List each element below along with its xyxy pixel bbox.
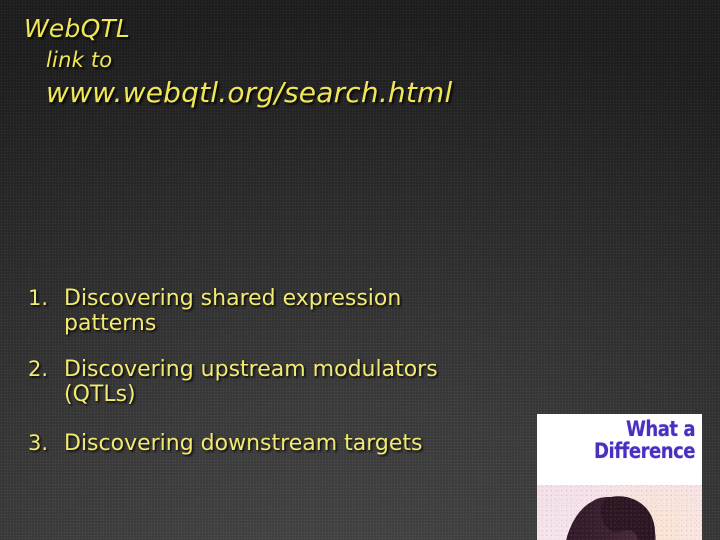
list-item-number: 2. xyxy=(28,358,64,382)
list-item-number: 1. xyxy=(28,287,64,311)
list-item-label: Discovering shared expression patterns xyxy=(64,287,464,336)
list-item-number: 3. xyxy=(28,432,64,456)
list-item: 3. Discovering downstream targets xyxy=(28,432,498,457)
list-item: 1. Discovering shared expression pattern… xyxy=(28,287,498,336)
poster-headline-line-2: Difference xyxy=(559,441,695,463)
title-line-1: WebQTL xyxy=(24,16,502,41)
title-line-3-url: www.webqtl.org/search.html xyxy=(46,79,502,107)
poster-headline-line-1: What a xyxy=(559,419,695,441)
title-line-2: link to xyxy=(46,50,502,71)
numbered-list: 1. Discovering shared expression pattern… xyxy=(28,287,498,456)
slide-title-block: WebQTL link to www.webqtl.org/search.htm… xyxy=(22,16,502,107)
poster-photo xyxy=(537,485,702,540)
poster-headline: What a Difference xyxy=(537,414,702,485)
list-item: 2. Discovering upstream modulators (QTLs… xyxy=(28,358,498,407)
ape-silhouette-icon xyxy=(539,489,691,540)
list-item-label: Discovering upstream modulators (QTLs) xyxy=(64,358,464,407)
list-item-label: Discovering downstream targets xyxy=(64,432,464,457)
poster-image: What a Difference xyxy=(537,414,702,540)
slide-canvas: WebQTL link to www.webqtl.org/search.htm… xyxy=(0,0,720,540)
